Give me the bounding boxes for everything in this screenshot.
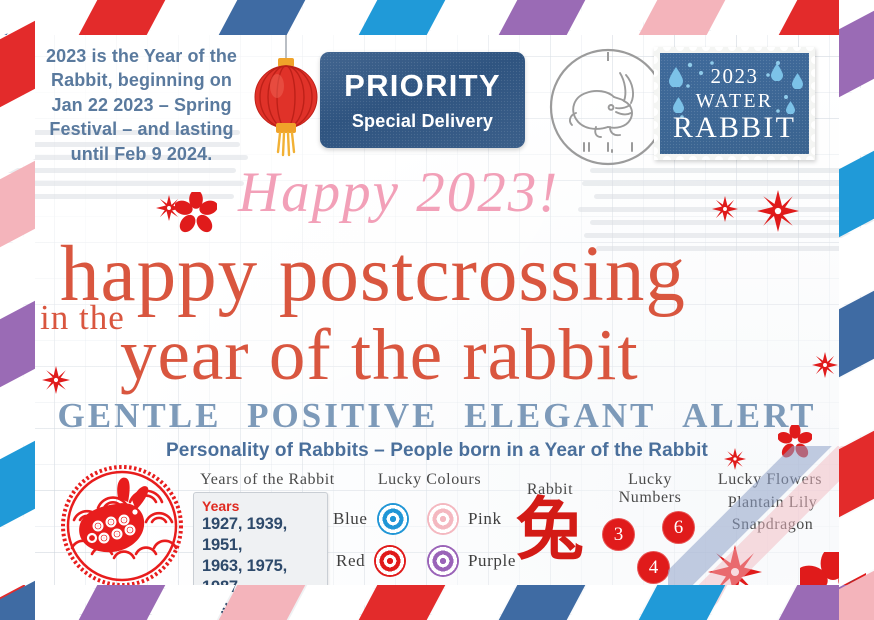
lucky-flowers-heading: Lucky Flowers <box>690 471 850 489</box>
lucky-numbers-heading-line1: Lucky <box>600 471 700 489</box>
happy-script-text: Happy 2023! <box>238 160 559 225</box>
plum-blossom-icon <box>778 425 812 459</box>
plum-blossom-icon <box>42 366 70 394</box>
lucky-flower-1: Plantain Lily <box>690 492 855 514</box>
stamp-element: WATER <box>696 90 774 113</box>
lucky-flowers-list: Plantain Lily Snapdragon <box>690 492 855 535</box>
lucky-numbers-heading: Lucky Numbers <box>600 471 700 508</box>
priority-label-sub: Special Delivery <box>352 111 493 132</box>
airmail-border-left <box>0 0 35 620</box>
headline-in-the: in the <box>40 300 125 335</box>
lucky-colour-blue: Blue <box>333 503 409 535</box>
lucky-number-1: 3 <box>602 518 635 551</box>
lucky-numbers-heading-line2: Numbers <box>600 489 700 507</box>
intro-text: 2023 is the Year of the Rabbit, beginnin… <box>34 44 249 166</box>
trait-1: GENTLE <box>58 396 222 435</box>
lucky-colour-red: Red <box>336 545 406 577</box>
lucky-number-3: 4 <box>637 551 670 584</box>
headline-line2: year of the rabbit <box>120 318 639 391</box>
target-icon-purple <box>427 545 459 577</box>
postcard: 2023 is the Year of the Rabbit, beginnin… <box>0 0 874 620</box>
target-icon-blue <box>377 503 409 535</box>
trait-3: ELEGANT <box>464 396 656 435</box>
rabbit-hanzi: 兔 <box>505 497 595 565</box>
target-icon-red <box>374 545 406 577</box>
lucky-colour-label-blue: Blue <box>333 509 368 529</box>
traits-row: GENTLE POSITIVE ELEGANT ALERT <box>0 396 874 436</box>
rabbit-papercut-icon <box>58 462 186 590</box>
stamp-face: 2023 WATER RABBIT <box>660 53 809 154</box>
stamp-animal: RABBIT <box>673 113 796 143</box>
lucky-colour-pink: Pink <box>427 503 502 535</box>
trait-2: POSITIVE <box>247 396 438 435</box>
lucky-colour-label-red: Red <box>336 551 365 571</box>
rabbit-postmark-icon <box>548 47 668 167</box>
target-icon-pink <box>427 503 459 535</box>
priority-label: PRIORITY Special Delivery <box>320 52 525 148</box>
water-rabbit-stamp: 2023 WATER RABBIT <box>654 47 815 160</box>
plum-blossom-icon <box>812 352 838 378</box>
lucky-flower-2: Snapdragon <box>690 514 855 536</box>
lucky-colour-purple: Purple <box>427 545 516 577</box>
airmail-border-top <box>0 0 874 35</box>
years-heading: Years of the Rabbit <box>180 471 355 489</box>
stamp-year: 2023 <box>711 64 759 89</box>
plum-blossom-icon <box>757 190 799 232</box>
airmail-border-right <box>839 0 874 620</box>
chinese-lantern-icon <box>253 22 319 157</box>
airmail-border-bottom <box>0 585 874 620</box>
lucky-colour-label-pink: Pink <box>468 509 502 529</box>
plum-blossom-icon <box>724 448 746 470</box>
headline-line1: happy postcrossing <box>60 235 686 314</box>
plum-blossom-icon <box>712 196 738 222</box>
priority-label-main: PRIORITY <box>344 68 501 104</box>
years-box-label: Years <box>202 498 319 514</box>
lucky-colours-heading: Lucky Colours <box>352 471 507 489</box>
years-line-1: 1927, 1939, 1951, <box>202 514 319 556</box>
plum-blossom-icon <box>175 192 217 234</box>
